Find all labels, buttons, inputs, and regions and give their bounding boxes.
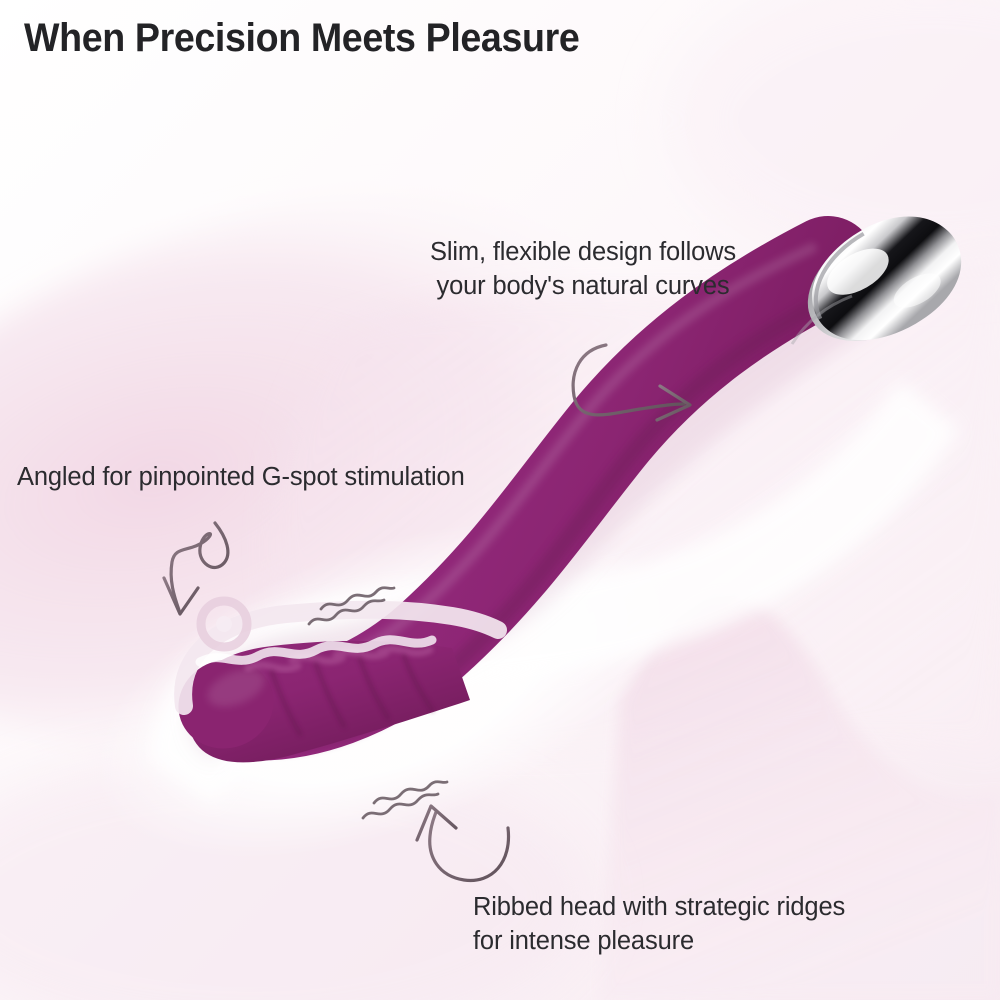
callout-slim-flexible: Slim, flexible design follows your body'… [400,236,766,304]
callout-ribbed-head: Ribbed head with strategic ridges for in… [473,891,943,959]
product-feature-diagram: When Precision Meets Pleasure Slim, flex… [0,0,1000,1000]
product-illustration [0,0,1000,1000]
callout-angled-gspot: Angled for pinpointed G-spot stimulation [17,461,577,495]
page-title: When Precision Meets Pleasure [24,16,579,61]
